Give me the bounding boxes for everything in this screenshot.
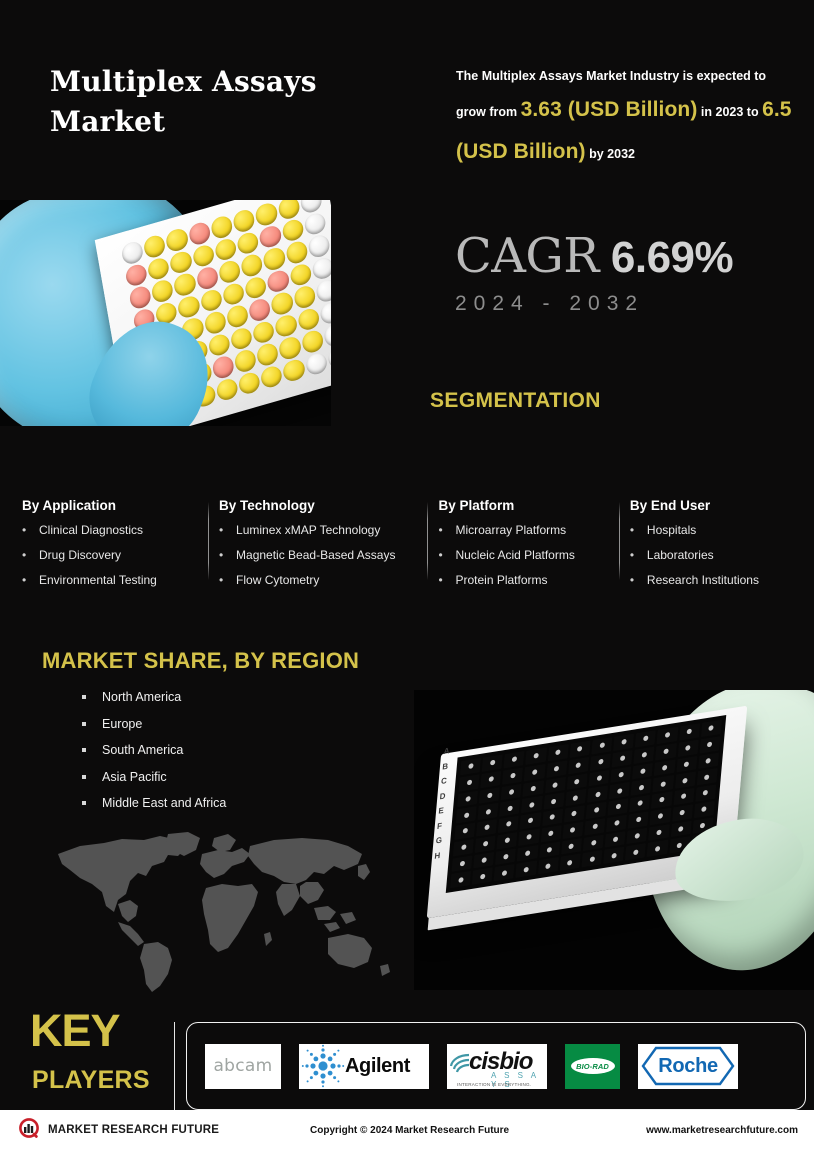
key-players-logo-box: abcam Agilent	[186, 1022, 806, 1110]
microplate-photo-colored	[0, 200, 331, 426]
segment-item: • Laboratories	[630, 549, 798, 562]
segment-item-label: Research Institutions	[647, 574, 759, 587]
note-grow-from: grow from	[456, 105, 517, 119]
world-map-icon	[18, 826, 410, 996]
website-url[interactable]: www.marketresearchfuture.com	[646, 1125, 798, 1136]
square-bullet-icon	[82, 801, 86, 805]
region-list: North America Europe South America Asia …	[82, 690, 226, 823]
logo-abcam[interactable]: abcam	[205, 1044, 281, 1089]
segment-item: • Environmental Testing	[22, 574, 205, 587]
infographic-page: Multiplex Assays Market The Multiplex As…	[0, 0, 814, 1150]
square-bullet-icon	[82, 748, 86, 752]
segment-column-technology: By Technology • Luminex xMAP Technology …	[219, 498, 438, 600]
note-to: to	[747, 105, 759, 119]
segment-item: • Drug Discovery	[22, 549, 205, 562]
list-item: South America	[82, 743, 226, 757]
segment-item: • Microarray Platforms	[438, 524, 615, 537]
segment-title: By Platform	[438, 498, 615, 513]
segment-title: By Technology	[219, 498, 424, 513]
column-divider	[208, 502, 209, 580]
list-item: North America	[82, 690, 226, 704]
segment-item: • Research Institutions	[630, 574, 798, 587]
segmentation-heading: SEGMENTATION	[430, 389, 601, 413]
cagr-label: CAGR	[455, 232, 599, 280]
square-bullet-icon	[82, 695, 86, 699]
logo-cisbio[interactable]: cisbio A S S A Y S INTERACTION IS EVERYT…	[447, 1044, 547, 1089]
cagr-period: 2024 - 2032	[455, 292, 733, 316]
segment-item-label: Clinical Diagnostics	[39, 524, 143, 537]
logo-agilent[interactable]: Agilent	[299, 1044, 429, 1089]
cisbio-arcs-icon	[449, 1052, 471, 1078]
footer-bar: MARKET RESEARCH FUTURE Copyright © 2024 …	[0, 1110, 814, 1150]
bullet-icon: •	[22, 574, 39, 587]
bullet-icon: •	[438, 574, 455, 587]
region-label: South America	[102, 743, 183, 757]
region-label: North America	[102, 690, 181, 704]
agilent-starburst-icon	[301, 1044, 345, 1088]
cagr-value: 6.69%	[611, 236, 733, 280]
list-item: Middle East and Africa	[82, 796, 226, 810]
microplate-photo-black: ABCDEFGH	[414, 690, 814, 990]
list-item: Europe	[82, 717, 226, 731]
value-2023: 3.63 (USD Billion)	[521, 98, 698, 121]
segment-item: • Magnetic Bead-Based Assays	[219, 549, 424, 562]
note-by-2032: by 2032	[589, 147, 635, 161]
bullet-icon: •	[22, 524, 39, 537]
logo-agilent-text: Agilent	[345, 1055, 410, 1078]
logo-cisbio-tagline: INTERACTION IS EVERYTHING.	[457, 1082, 531, 1087]
segment-column-platform: By Platform • Microarray Platforms • Nuc…	[438, 498, 629, 600]
segment-item-label: Magnetic Bead-Based Assays	[236, 549, 395, 562]
market-research-future-logo-icon	[18, 1118, 42, 1142]
segmentation-columns: By Application • Clinical Diagnostics • …	[22, 498, 812, 600]
region-label: Asia Pacific	[102, 770, 167, 784]
segment-item: • Flow Cytometry	[219, 574, 424, 587]
page-title: Multiplex Assays Market	[50, 62, 390, 142]
bullet-icon: •	[630, 549, 647, 562]
brand-logo: MARKET RESEARCH FUTURE	[18, 1118, 219, 1142]
market-share-heading: MARKET SHARE, BY REGION	[42, 648, 359, 674]
logo-roche[interactable]: Roche	[638, 1044, 738, 1089]
bullet-icon: •	[438, 524, 455, 537]
note-in-2023: in 2023	[701, 105, 743, 119]
bullet-icon: •	[219, 549, 236, 562]
region-label: Europe	[102, 717, 142, 731]
segment-item-label: Drug Discovery	[39, 549, 121, 562]
copyright-text: Copyright © 2024 Market Research Future	[310, 1125, 509, 1136]
note-prefix: The Multiplex Assays Market Industry is …	[456, 69, 766, 83]
segment-item-label: Flow Cytometry	[236, 574, 319, 587]
logo-abcam-text: abcam	[213, 1056, 272, 1076]
key-players-title-top: KEY	[30, 1008, 120, 1053]
segment-column-end-user: By End User • Hospitals • Laboratories •…	[630, 498, 812, 600]
bullet-icon: •	[219, 524, 236, 537]
segment-item-label: Laboratories	[647, 549, 714, 562]
segment-item: • Luminex xMAP Technology	[219, 524, 424, 537]
cagr-block: CAGR 6.69% 2024 - 2032	[455, 232, 733, 316]
segment-title: By Application	[22, 498, 205, 513]
segment-item: • Nucleic Acid Platforms	[438, 549, 615, 562]
segment-item-label: Luminex xMAP Technology	[236, 524, 380, 537]
square-bullet-icon	[82, 722, 86, 726]
segment-item: • Hospitals	[630, 524, 798, 537]
segment-item: • Protein Platforms	[438, 574, 615, 587]
segment-column-application: By Application • Clinical Diagnostics • …	[22, 498, 219, 600]
column-divider	[619, 502, 620, 580]
logo-bio-rad-text: BIO-RAD	[576, 1062, 609, 1071]
region-label: Middle East and Africa	[102, 796, 226, 810]
key-players-title-bottom: PLAYERS	[32, 1068, 150, 1093]
segment-item: • Clinical Diagnostics	[22, 524, 205, 537]
column-divider	[427, 502, 428, 580]
key-players-divider	[174, 1022, 175, 1110]
segment-item-label: Nucleic Acid Platforms	[455, 549, 574, 562]
segment-item-label: Protein Platforms	[455, 574, 547, 587]
segment-item-label: Hospitals	[647, 524, 696, 537]
bullet-icon: •	[219, 574, 236, 587]
brand-name: MARKET RESEARCH FUTURE	[48, 1124, 219, 1136]
bullet-icon: •	[438, 549, 455, 562]
list-item: Asia Pacific	[82, 770, 226, 784]
segment-title: By End User	[630, 498, 798, 513]
segment-item-label: Microarray Platforms	[455, 524, 566, 537]
bio-rad-oval: BIO-RAD	[571, 1058, 615, 1074]
logo-bio-rad[interactable]: BIO-RAD	[565, 1044, 620, 1089]
bullet-icon: •	[22, 549, 39, 562]
segment-item-label: Environmental Testing	[39, 574, 157, 587]
bullet-icon: •	[630, 574, 647, 587]
bullet-icon: •	[630, 524, 647, 537]
market-forecast-note: The Multiplex Assays Market Industry is …	[456, 64, 796, 173]
square-bullet-icon	[82, 775, 86, 779]
logo-roche-text: Roche	[658, 1055, 718, 1078]
